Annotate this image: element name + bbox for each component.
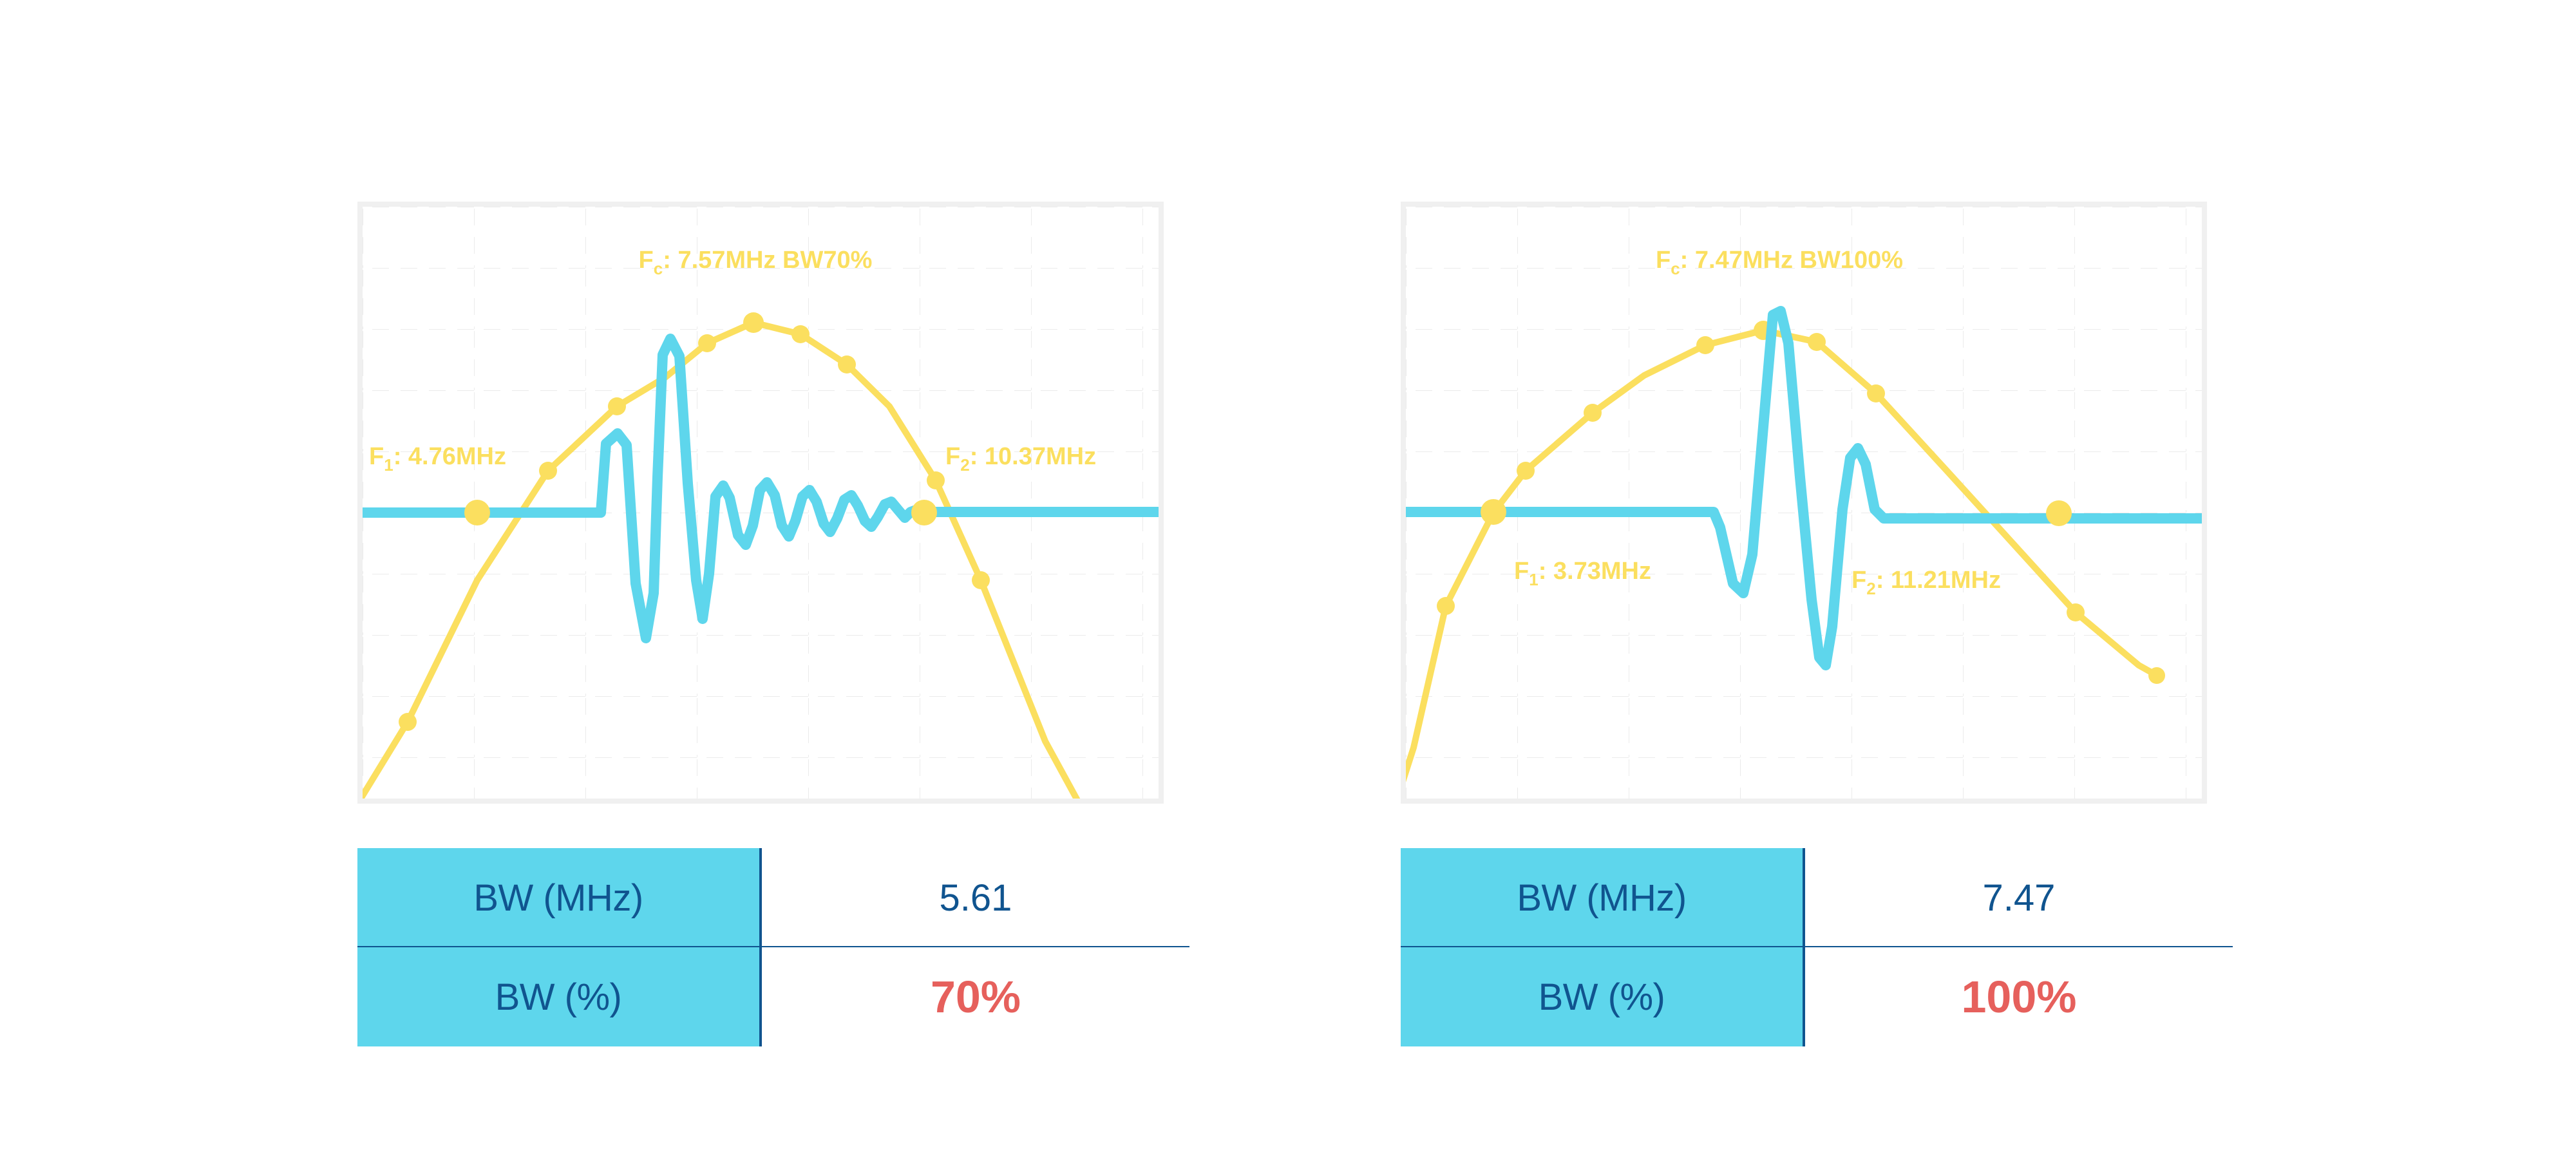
row-label-bw-percent: BW (%)	[1401, 947, 1805, 1046]
row-value-bw-percent: 70%	[762, 947, 1189, 1046]
panel-left: Fc: 7.57MHz BW70% F1: 4.76MHz F2: 10.37M…	[357, 202, 1164, 1008]
row-label-bw-mhz: BW (MHz)	[357, 848, 762, 947]
row-value-bw-percent: 100%	[1805, 947, 2233, 1046]
row-value-bw-mhz: 7.47	[1805, 848, 2233, 947]
svg-text:Fc: 7.57MHz BW70%: Fc: 7.57MHz BW70%	[639, 247, 873, 278]
table-row: BW (MHz) 5.61	[357, 848, 1189, 947]
row-label-bw-percent: BW (%)	[357, 947, 762, 1046]
chart-frame-left: Fc: 7.57MHz BW70% F1: 4.76MHz F2: 10.37M…	[357, 202, 1164, 804]
row-value-bw-mhz: 5.61	[762, 848, 1189, 947]
svg-text:Fc: 7.47MHz BW100%: Fc: 7.47MHz BW100%	[1656, 247, 1903, 278]
row-label-bw-mhz: BW (MHz)	[1401, 848, 1805, 947]
panel-right: Fc: 7.47MHz BW100% F1: 3.73MHz F2: 11.21…	[1401, 202, 2207, 1008]
annotation-center-left: Fc: 7.57MHz BW70%	[639, 247, 873, 278]
bw-table-right: BW (MHz) 7.47 BW (%) 100%	[1401, 848, 2233, 1046]
chart-frame-right: Fc: 7.47MHz BW100% F1: 3.73MHz F2: 11.21…	[1401, 202, 2207, 804]
table-row: BW (MHz) 7.47	[1401, 848, 2233, 947]
bw-table-left: BW (MHz) 5.61 BW (%) 70%	[357, 848, 1189, 1046]
chart-plot-left: Fc: 7.57MHz BW70% F1: 4.76MHz F2: 10.37M…	[363, 207, 1159, 799]
figure-canvas: Fc: 7.57MHz BW70% F1: 4.76MHz F2: 10.37M…	[0, 0, 2576, 1154]
chart-plot-right: Fc: 7.47MHz BW100% F1: 3.73MHz F2: 11.21…	[1406, 207, 2202, 799]
annotation-center-right: Fc: 7.47MHz BW100%	[1656, 247, 1903, 278]
table-row: BW (%) 100%	[1401, 947, 2233, 1046]
table-row: BW (%) 70%	[357, 947, 1189, 1046]
